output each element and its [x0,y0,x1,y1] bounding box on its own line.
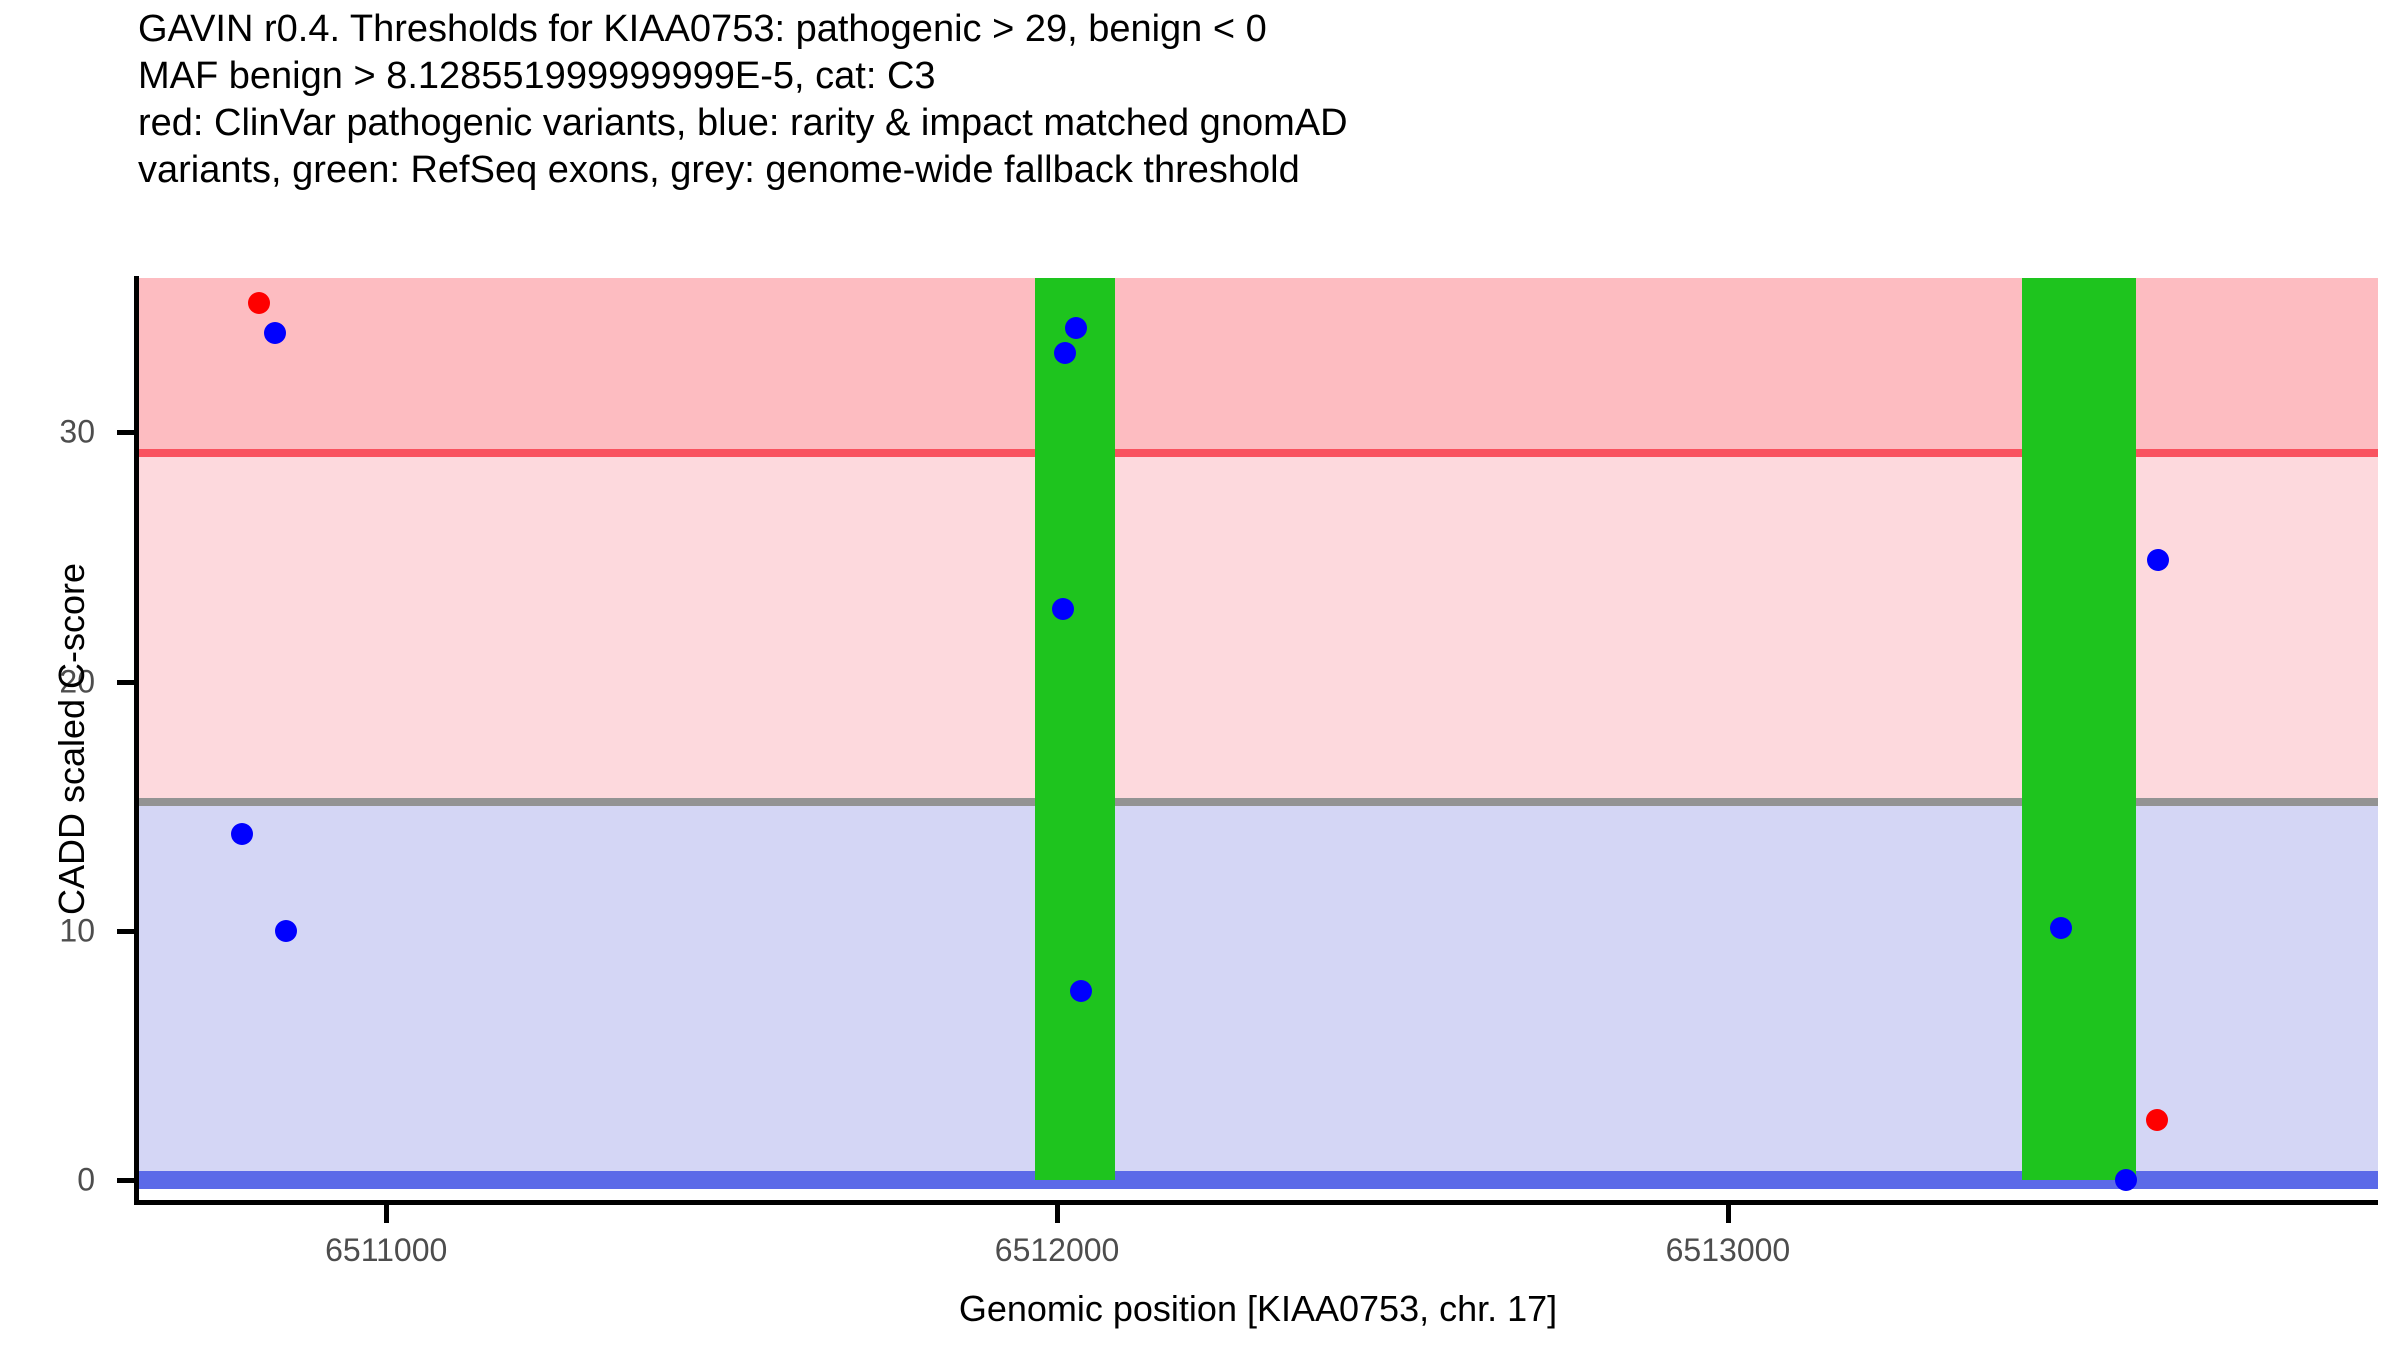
y-tick-mark [117,680,135,685]
gnomad-variant-point[interactable] [2147,549,2169,571]
gnomad-variant-point[interactable] [231,823,253,845]
y-tick-mark [117,430,135,435]
plot-panel [138,278,2378,1200]
y-axis-title: CADD scaled C-score [48,278,96,1200]
x-axis-title: Genomic position [KIAA0753, chr. 17] [138,1288,2378,1330]
y-tick-mark [117,929,135,934]
clinvar-pathogenic-point[interactable] [248,292,270,314]
y-tick-mark [117,1178,135,1183]
gnomad-variant-point[interactable] [1065,317,1087,339]
gavin-cadd-scatter-figure: GAVIN r0.4. Thresholds for KIAA0753: pat… [0,0,2400,1350]
x-axis-line [134,1200,2378,1205]
x-tick-label: 6513000 [1666,1232,1791,1269]
x-tick-mark [384,1205,389,1223]
chart-title-line-2: MAF benign > 8.128551999999999E-5, cat: … [138,53,2378,100]
chart-title-block: GAVIN r0.4. Thresholds for KIAA0753: pat… [138,6,2378,194]
refseq-exon-block [1035,278,1115,1180]
gnomad-variant-point[interactable] [1054,342,1076,364]
x-tick-label: 6511000 [325,1232,447,1269]
gnomad-variant-point[interactable] [275,920,297,942]
refseq-exon-block [2022,278,2136,1180]
gnomad-variant-point[interactable] [1070,980,1092,1002]
x-tick-mark [1726,1205,1731,1223]
chart-title-line-1: GAVIN r0.4. Thresholds for KIAA0753: pat… [138,6,2378,53]
x-tick-label: 6512000 [995,1232,1120,1269]
chart-title-line-3: red: ClinVar pathogenic variants, blue: … [138,100,2378,147]
y-axis-line [134,276,139,1202]
gnomad-variant-point[interactable] [264,322,286,344]
x-tick-mark [1055,1205,1060,1223]
chart-title-line-4: variants, green: RefSeq exons, grey: gen… [138,147,2378,194]
